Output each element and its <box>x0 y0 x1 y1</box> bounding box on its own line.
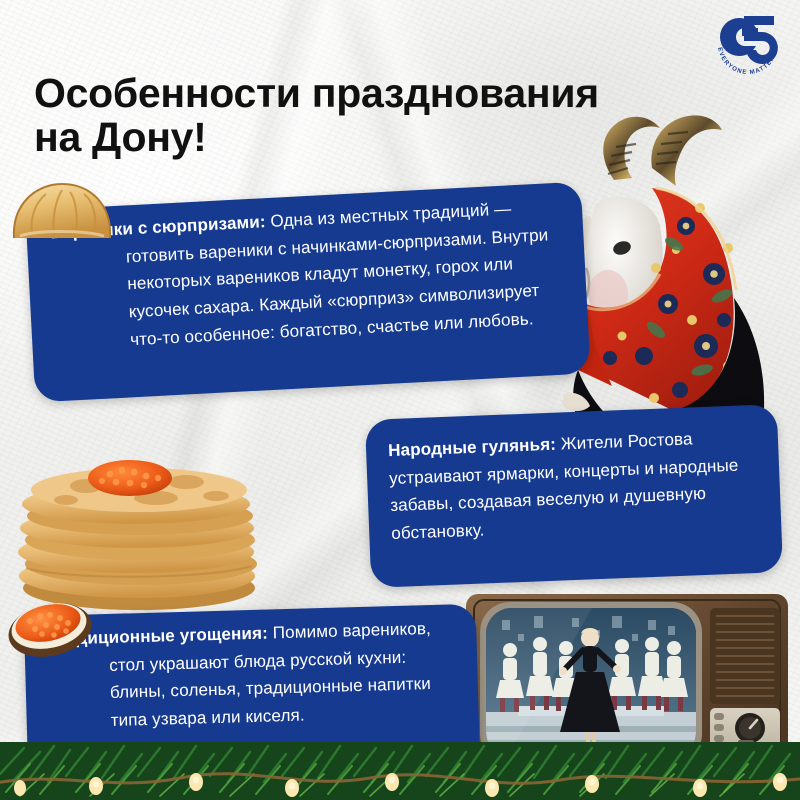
blini-stack-image <box>6 438 272 610</box>
page-title: Особенности празднования на Дону! <box>34 72 614 160</box>
g5-logo: EVERYONE MATTERS <box>698 4 794 78</box>
card-vareniki-text: Вареники с сюрпризами: Одна из местных т… <box>50 193 569 358</box>
card-gulyanya-heading: Народные гулянья: <box>388 435 557 460</box>
blini-caviar-topping <box>88 460 172 496</box>
card-gulyanya-text: Народные гулянья: Жители Ростова устраив… <box>388 423 762 548</box>
card-gulyanya: Народные гулянья: Жители Ростова устраив… <box>365 404 783 588</box>
fir-branch-decoration <box>0 734 800 800</box>
card-ugoshcheniya-text: Традиционные угощения: Помимо вареников,… <box>46 614 461 736</box>
varenik-body <box>14 184 110 238</box>
varenik-image <box>6 176 118 254</box>
poster-canvas: EVERYONE MATTERS Особенности праздновани… <box>0 0 800 800</box>
goat-horn-right <box>651 115 722 186</box>
caviar-sandwich-image <box>2 588 98 662</box>
